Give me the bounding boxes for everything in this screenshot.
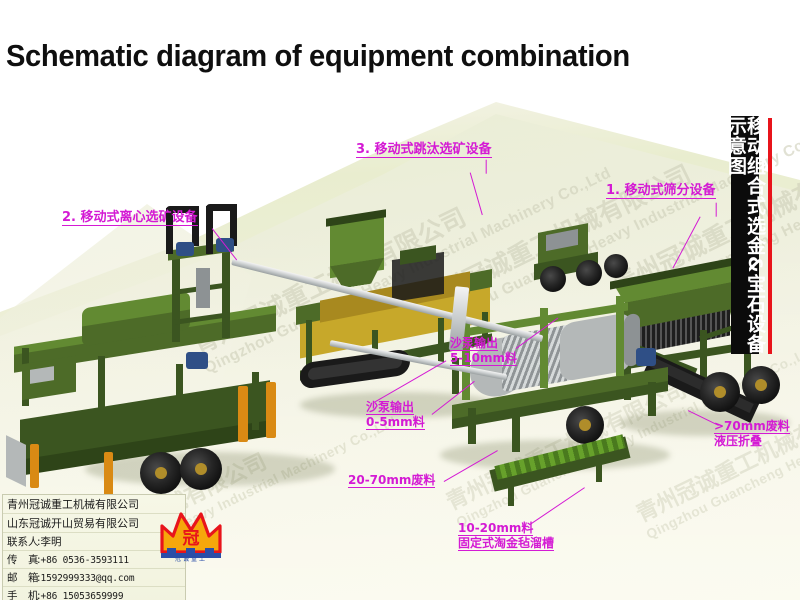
flow-label-line1: 沙泵输出 (450, 336, 498, 351)
flow-label-pump-5-10: 沙泵输出 5-10mm料 (450, 336, 517, 366)
wheel (576, 260, 602, 286)
flow-label-line2: 固定式淘金毡溜槽 (458, 536, 554, 551)
mobile-row: 手 机:+86 15053659999 (3, 587, 185, 600)
flow-label-line2: 液压折叠 (714, 434, 762, 448)
motor (636, 348, 656, 366)
flow-label-waste-over-70: >70mm废料 液压折叠 (714, 419, 790, 448)
wheel-hub (155, 467, 167, 479)
frame-upright (176, 364, 183, 422)
callout-jig-label: 3. 移动式跳汰选矿设备 (356, 142, 492, 158)
wheel-hub (195, 463, 207, 475)
sluice-leg (508, 486, 514, 506)
logo-caption: 冠诚重工 (158, 554, 224, 563)
wheel-hub (714, 386, 726, 398)
fax-value: +86 0536-3593111 (41, 555, 129, 566)
tower-leg (172, 252, 180, 342)
wheel-hub (579, 419, 591, 431)
mobile-key: 手 机 (7, 588, 37, 600)
vertical-banner: 移动组合式选金&宝石设备示意图 (731, 116, 759, 354)
mobile-value: +86 15053659999 (41, 591, 124, 600)
fax-key: 传 真 (7, 552, 37, 567)
email-row: 邮 箱:1592999333@qq.com (3, 569, 185, 587)
support-leg (512, 416, 520, 452)
red-accent-bar (768, 118, 772, 354)
hydraulic-leg (238, 386, 248, 442)
flow-label-line1: 20-70mm废料 (348, 473, 435, 488)
support-leg (468, 408, 476, 444)
svg-text:冠: 冠 (183, 529, 200, 549)
flow-label-waste-20-70: 20-70mm废料 (348, 473, 435, 488)
callout-screening: 1. 移动式筛分设备 (606, 183, 716, 199)
flow-label-line2: 0-5mm料 (366, 415, 425, 430)
sluice-leg (596, 462, 602, 482)
wheel-hub (755, 379, 767, 391)
frame-upright (98, 356, 105, 414)
centrifuge-bowl (196, 268, 210, 308)
flow-label-line1: 10-20mm料 (458, 521, 533, 536)
callout-centrifugal: 2. 移动式离心选矿设备 (62, 210, 198, 226)
hydraulic-leg (30, 444, 39, 488)
wheel (604, 254, 628, 278)
email-key: 邮 箱 (7, 570, 37, 585)
flow-label-line1: 沙泵输出 (366, 400, 414, 415)
flow-label-line2: 5-10mm料 (450, 351, 517, 366)
hydraulic-leg (104, 452, 113, 496)
frame-upright (252, 372, 259, 430)
hydraulic-leg (266, 382, 276, 438)
company-logo: 冠 冠诚重工 (158, 506, 224, 564)
wheel (540, 266, 566, 292)
schematic-canvas: 青州冠诚重工机械有限公司 Qingzhou Guancheng Heavy In… (0, 0, 800, 600)
leader-line (485, 160, 486, 174)
flow-label-line1: >70mm废料 (714, 419, 790, 434)
flow-label-pump-0-5: 沙泵输出 0-5mm料 (366, 400, 425, 430)
email-value: 1592999333@qq.com (41, 573, 135, 584)
frame-upright (306, 320, 312, 368)
contact-key: 联系人 (7, 534, 37, 549)
motor (186, 352, 208, 369)
motor (176, 242, 194, 256)
support-leg (648, 382, 656, 416)
callout-centrifugal-label: 2. 移动式离心选矿设备 (62, 210, 198, 226)
contact-value: 李明 (41, 536, 62, 548)
page-title: Schematic diagram of equipment combinati… (6, 38, 630, 74)
vertical-banner-text: 移动组合式选金&宝石设备示意图 (726, 116, 764, 354)
callout-jig: 3. 移动式跳汰选矿设备 (356, 142, 492, 158)
callout-screening-label: 1. 移动式筛分设备 (606, 183, 716, 199)
flow-label-sluice: 10-20mm料 固定式淘金毡溜槽 (458, 521, 554, 551)
leader-line (715, 203, 716, 217)
tower-leg (222, 246, 230, 338)
